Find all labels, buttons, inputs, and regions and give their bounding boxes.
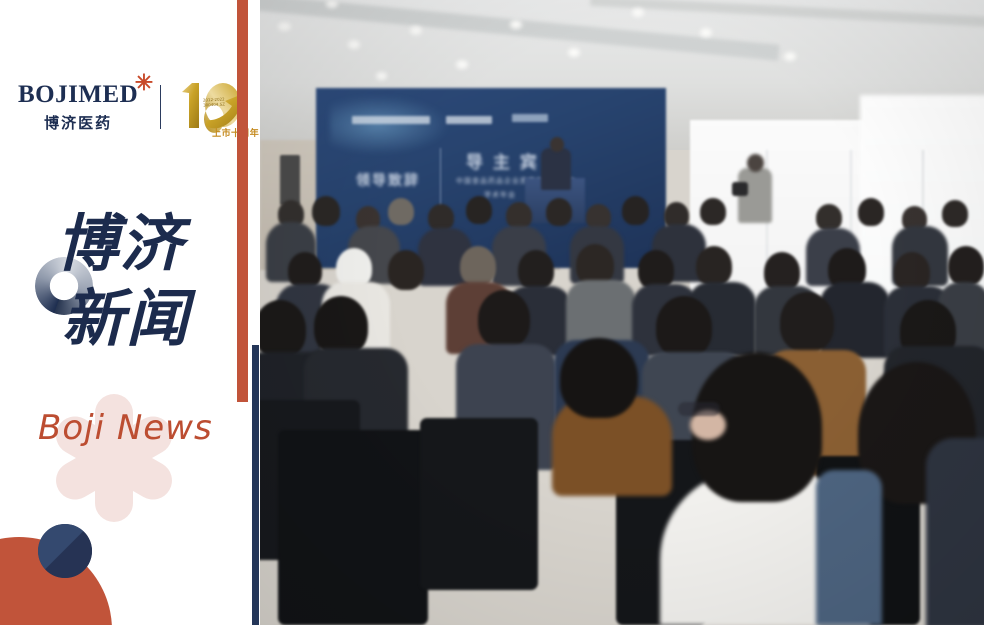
page-title-line2: 新闻 bbox=[62, 287, 190, 350]
page-subtitle: Boji News bbox=[38, 408, 213, 448]
news-poster: BOJIMED ✳ 博济医药 bbox=[0, 0, 984, 625]
photo-vignette bbox=[260, 0, 984, 625]
conference-photo: 领导致辞 导 主 宾 中国食品药品企业质量安全促进会 学术年会 bbox=[260, 0, 984, 625]
anniversary-label: 上市十周年 bbox=[212, 126, 259, 139]
logo-mark: BOJIMED ✳ 博济医药 bbox=[18, 82, 138, 133]
logo-chinese-name: 博济医药 bbox=[18, 112, 138, 133]
navy-accent-bar bbox=[252, 345, 259, 625]
page-title-line1: 博济 bbox=[56, 212, 190, 275]
asterisk-icon: ✳ bbox=[135, 72, 153, 94]
page-title: 博济 新闻 bbox=[56, 212, 190, 350]
asterisk-watermark-icon bbox=[14, 358, 214, 558]
anniversary-years: 2012-2022300404.SZ bbox=[203, 96, 225, 108]
logo-wordmark: BOJIMED bbox=[18, 82, 138, 107]
orange-accent-bar bbox=[237, 0, 248, 402]
left-branding-panel: BOJIMED ✳ 博济医药 bbox=[0, 0, 260, 625]
brand-logo: BOJIMED ✳ 博济医药 bbox=[18, 76, 256, 138]
logo-divider bbox=[160, 85, 161, 129]
navy-circle-decoration bbox=[38, 524, 92, 578]
